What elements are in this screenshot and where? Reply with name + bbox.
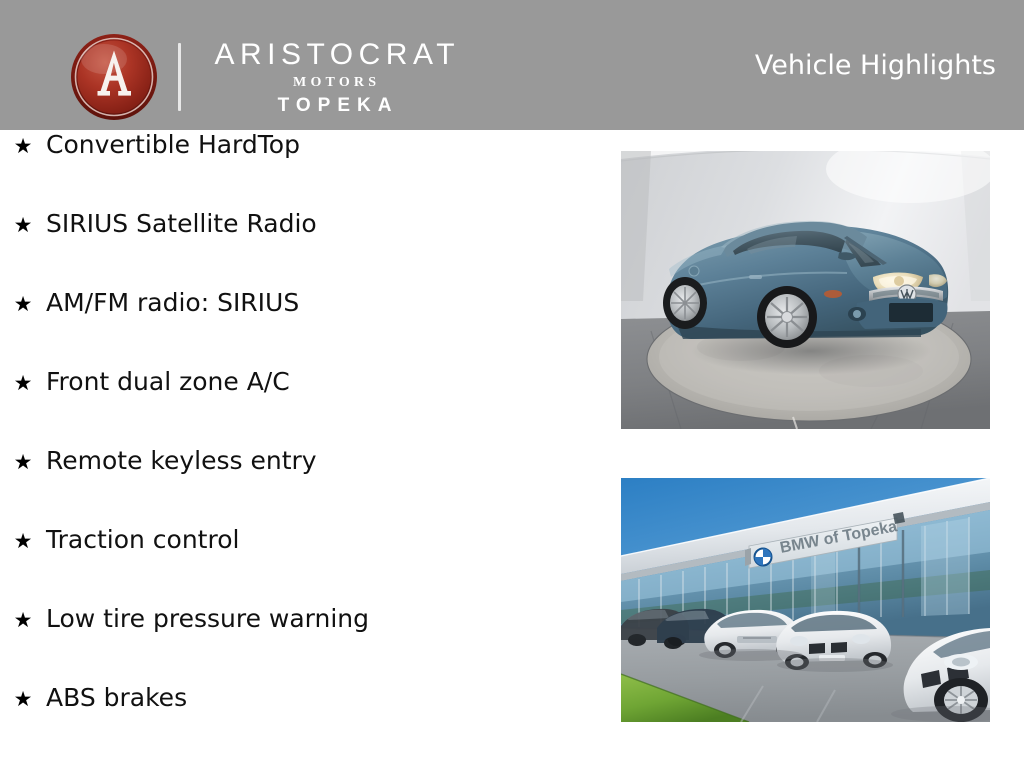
feature-label: AM/FM radio: SIRIUS (46, 288, 299, 318)
aristocrat-emblem-icon (70, 33, 158, 121)
star-bullet-icon: ★ (0, 369, 46, 397)
feature-label: Front dual zone A/C (46, 367, 290, 397)
feature-label: Convertible HardTop (46, 130, 300, 160)
page-title: Vehicle Highlights (755, 50, 996, 82)
dealership-photo: BMW of Topeka (621, 478, 990, 722)
vehicle-photo (621, 151, 990, 429)
star-bullet-icon: ★ (0, 685, 46, 713)
list-item: ★ Remote keyless entry (0, 446, 600, 525)
list-item: ★ Traction control (0, 525, 600, 604)
star-bullet-icon: ★ (0, 527, 46, 555)
dealership-brand-logo: ARISTOCRAT MOTORS TOPEKA (70, 32, 460, 122)
feature-label: SIRIUS Satellite Radio (46, 209, 317, 239)
list-item: ★ Low tire pressure warning (0, 604, 600, 683)
list-item: ★ AM/FM radio: SIRIUS (0, 288, 600, 367)
list-item: ★ Convertible HardTop (0, 130, 600, 209)
feature-label: Remote keyless entry (46, 446, 317, 476)
feature-label: Low tire pressure warning (46, 604, 369, 634)
star-bullet-icon: ★ (0, 211, 46, 239)
star-bullet-icon: ★ (0, 448, 46, 476)
list-item: ★ SIRIUS Satellite Radio (0, 209, 600, 288)
brand-wordmark: ARISTOCRAT MOTORS TOPEKA (209, 38, 460, 117)
star-bullet-icon: ★ (0, 290, 46, 318)
vehicle-highlights-slide: ARISTOCRAT MOTORS TOPEKA Vehicle Highlig… (0, 0, 1024, 768)
brand-category: MOTORS (289, 73, 380, 92)
brand-name: ARISTOCRAT (209, 38, 460, 72)
vehicle-features-list: ★ Convertible HardTop ★ SIRIUS Satellite… (0, 130, 600, 762)
list-item: ★ Front dual zone A/C (0, 367, 600, 446)
list-item: ★ ABS brakes (0, 683, 600, 762)
feature-label: Traction control (46, 525, 239, 555)
page-header: ARISTOCRAT MOTORS TOPEKA Vehicle Highlig… (0, 0, 1024, 130)
feature-label: ABS brakes (46, 683, 187, 713)
brand-city: TOPEKA (271, 94, 399, 117)
brand-divider (178, 43, 181, 111)
star-bullet-icon: ★ (0, 606, 46, 634)
star-bullet-icon: ★ (0, 132, 46, 160)
